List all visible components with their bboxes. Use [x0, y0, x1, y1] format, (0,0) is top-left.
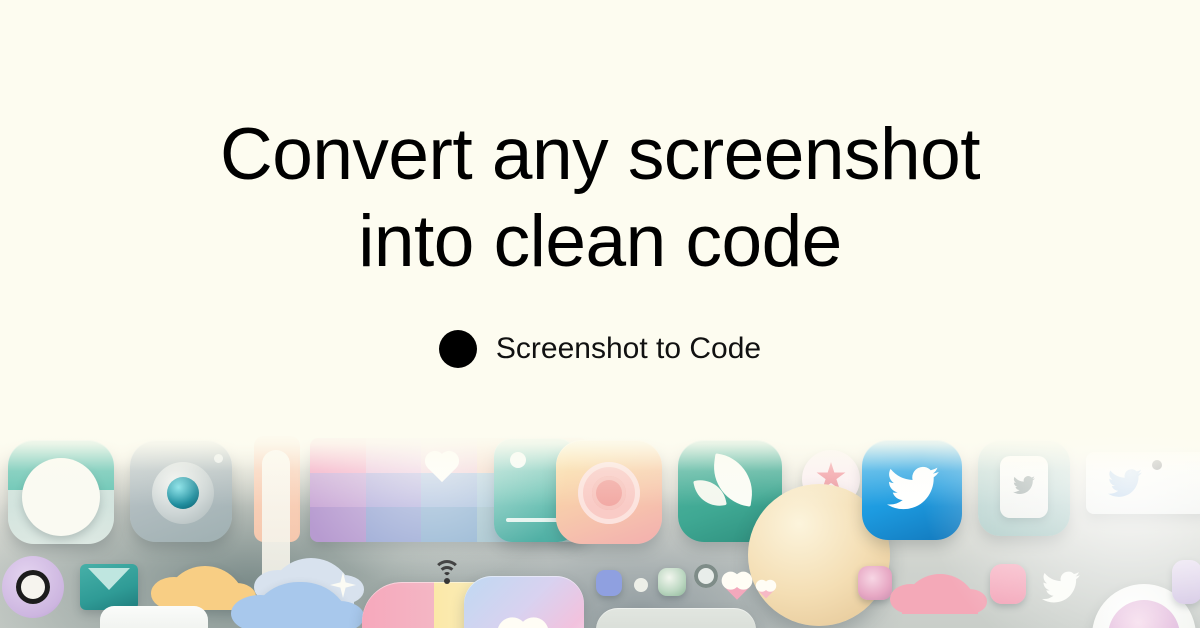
og-card: Convert any screenshot into clean code S… — [0, 0, 1200, 628]
headline-line-2: into clean code — [220, 199, 980, 286]
pink-music-chip-icon — [990, 564, 1026, 604]
brand-name: Screenshot to Code — [496, 332, 761, 366]
pink-cloud-icon — [902, 574, 978, 614]
teal-lens-icon — [167, 477, 199, 509]
twitter-bird-light-blue-icon — [1106, 466, 1144, 500]
black-circle-icon — [439, 330, 477, 368]
brand-row: Screenshot to Code — [439, 330, 761, 368]
headline-line-1: Convert any screenshot — [220, 112, 980, 199]
lavender-ring-inner-icon — [16, 570, 50, 604]
blue-chip-icon — [596, 570, 622, 596]
pink-spiral-chip-icon — [858, 566, 892, 600]
white-rounded-card-icon — [100, 606, 208, 628]
lavender-capsule-icon — [1172, 560, 1200, 604]
twitter-bird-gray-icon — [1012, 474, 1036, 496]
yellow-cloud-icon — [164, 566, 246, 610]
heart-icon-large — [502, 622, 544, 628]
mint-panel-dot-icon — [510, 452, 526, 468]
black-dot-icon — [1152, 460, 1162, 470]
green-lens-chip-icon — [658, 568, 686, 596]
gray-rounded-card-icon — [596, 608, 756, 628]
white-circle-icon — [22, 458, 100, 536]
pink-heart-chip-icon — [724, 574, 749, 599]
icon-collage-strip — [0, 432, 1200, 628]
small-white-dot-icon — [634, 578, 648, 592]
twitter-bird-white-icon — [884, 462, 942, 514]
hero-section: Convert any screenshot into clean code S… — [0, 0, 1200, 440]
wifi-icon — [430, 560, 464, 590]
twitter-bird-white-small-icon — [1040, 568, 1082, 606]
camera-dot-icon — [214, 454, 223, 463]
pink-target-icon — [592, 476, 626, 510]
mint-panel-line-icon — [506, 518, 562, 522]
page-title: Convert any screenshot into clean code — [220, 112, 980, 286]
target-chip-icon — [694, 564, 718, 588]
